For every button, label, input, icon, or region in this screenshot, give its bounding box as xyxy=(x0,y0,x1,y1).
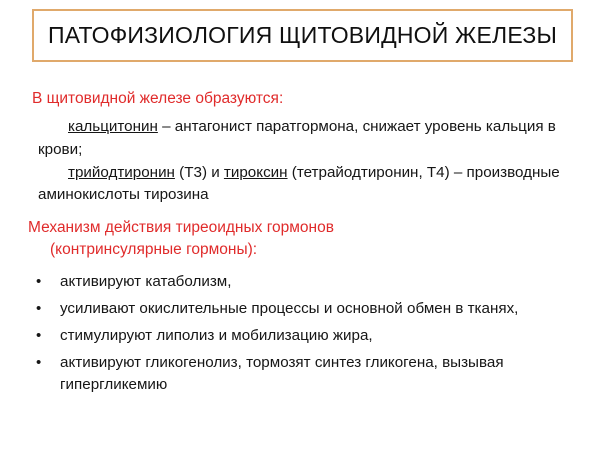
spacer xyxy=(28,207,590,217)
term-thyroxine: тироксин xyxy=(224,164,288,181)
list-item: • усиливают окислительные процессы и осн… xyxy=(28,298,590,321)
list-item: • стимулируют липолиз и мобилизацию жира… xyxy=(28,325,590,348)
section2-heading: Механизм действия тиреоидных гормонов (к… xyxy=(28,217,590,261)
term-triiodothyronine: трийодтиронин xyxy=(68,164,175,181)
section1-heading: В щитовидной железе образуются: xyxy=(32,88,590,110)
list-item-label: стимулируют липолиз и мобилизацию жира, xyxy=(60,327,373,344)
bullet-icon: • xyxy=(36,325,41,348)
slide-title-box: ПАТОФИЗИОЛОГИЯ ЩИТОВИДНОЙ ЖЕЛЕЗЫ xyxy=(32,9,573,62)
list-item: • активируют катаболизм, xyxy=(28,271,590,294)
section2-heading-line1: Механизм действия тиреоидных гормонов xyxy=(28,219,334,236)
bullet-icon: • xyxy=(36,352,41,375)
section1-item-calcitonin: кальцитонин – антагонист паратгормона, с… xyxy=(28,116,590,162)
list-item-label: активируют катаболизм, xyxy=(60,273,231,290)
spacer xyxy=(28,261,590,271)
section2-bullet-list: • активируют катаболизм, • усиливают оки… xyxy=(28,271,590,397)
list-item-label: активируют гликогенолиз, тормозят синтез… xyxy=(60,354,504,394)
list-item-label: усиливают окислительные процессы и основ… xyxy=(60,300,518,317)
slide-body: В щитовидной железе образуются: кальцито… xyxy=(28,80,590,401)
section2-heading-line2: (контринсулярные гормоны): xyxy=(28,239,590,261)
bullet-icon: • xyxy=(36,298,41,321)
term-calcitonin: кальцитонин xyxy=(68,118,158,135)
list-item: • активируют гликогенолиз, тормозят синт… xyxy=(28,352,590,398)
term-triiodothyronine-mid: (Т3) и xyxy=(175,164,224,181)
section1-item-thyroid-hormones: трийодтиронин (Т3) и тироксин (тетрайодт… xyxy=(28,162,590,208)
bullet-icon: • xyxy=(36,271,41,294)
slide-canvas: ПАТОФИЗИОЛОГИЯ ЩИТОВИДНОЙ ЖЕЛЕЗЫ В щитов… xyxy=(0,0,610,457)
page-title: ПАТОФИЗИОЛОГИЯ ЩИТОВИДНОЙ ЖЕЛЕЗЫ xyxy=(48,23,557,48)
